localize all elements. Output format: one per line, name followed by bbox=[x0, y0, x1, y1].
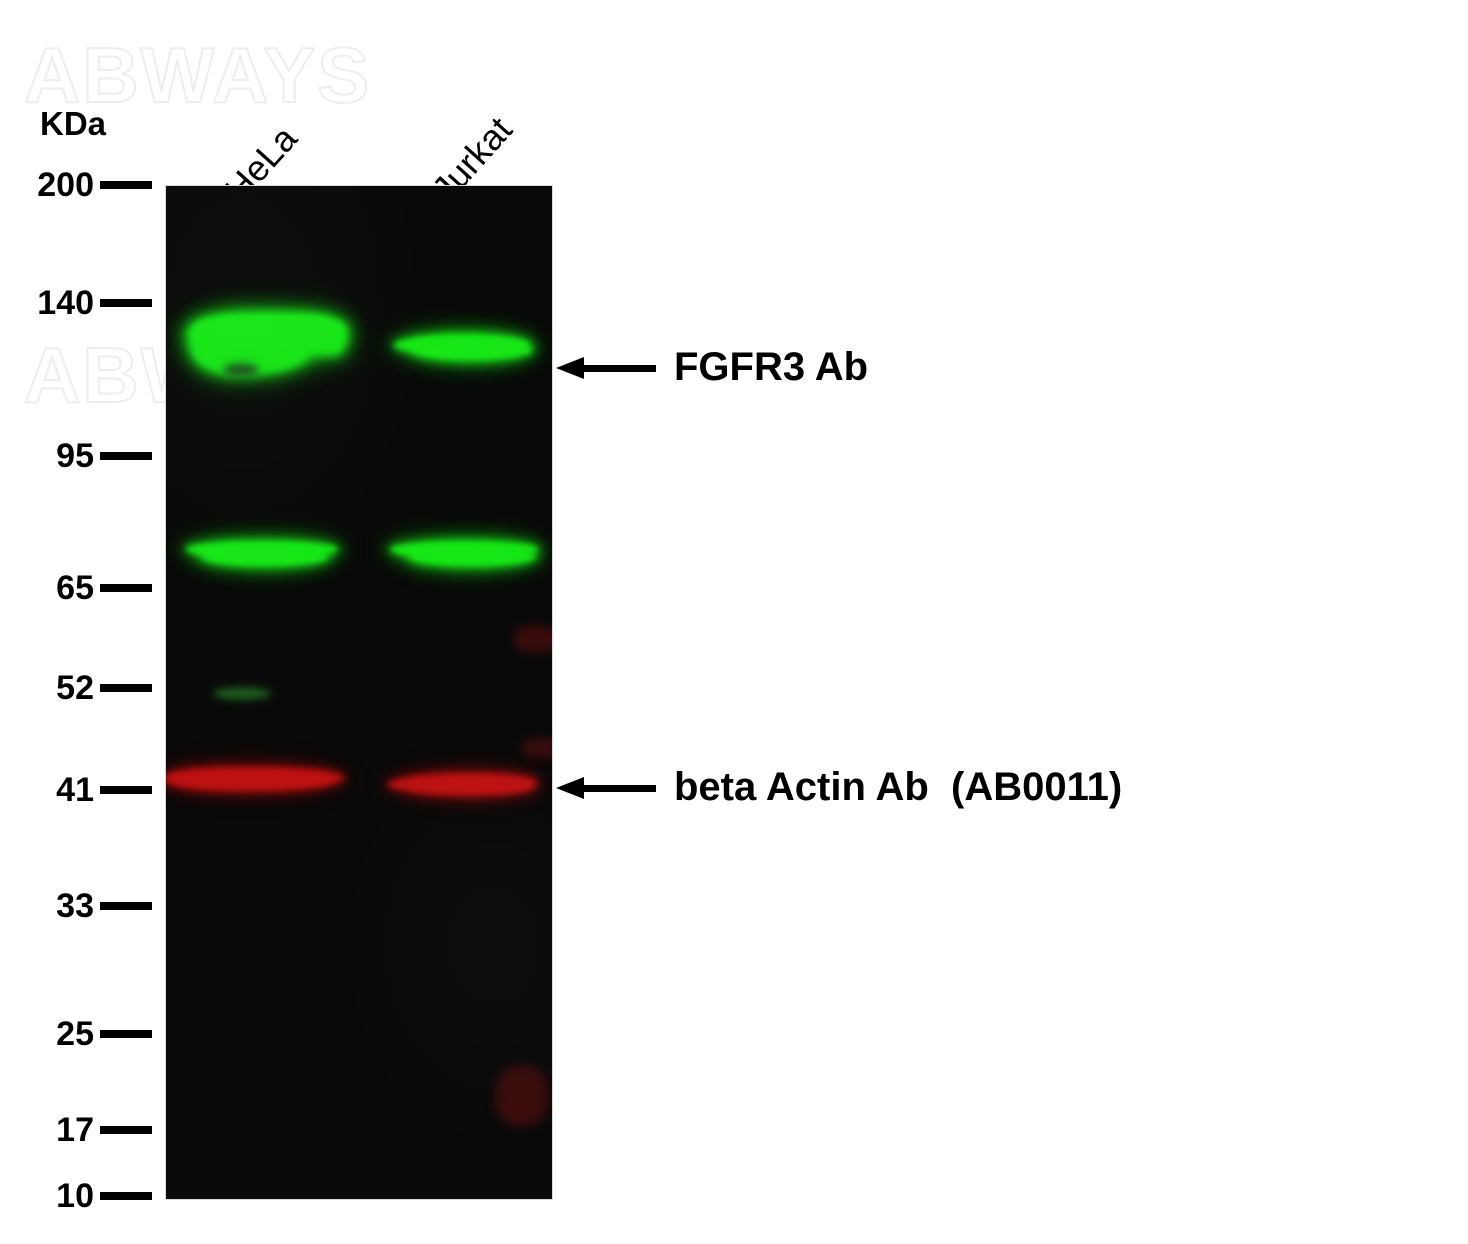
mw-label-52: 52 bbox=[56, 671, 94, 705]
mw-marker-52: 52 bbox=[0, 671, 152, 705]
mw-label-65: 65 bbox=[56, 571, 94, 605]
band-jurkat-fgfr3-upper-slant bbox=[414, 340, 532, 360]
annotation-fgfr3: FGFR3 Ab bbox=[556, 345, 868, 390]
mw-label-25: 25 bbox=[56, 1017, 94, 1051]
mw-marker-65: 65 bbox=[0, 571, 152, 605]
mw-marker-200: 200 bbox=[0, 168, 152, 202]
blot-membrane bbox=[165, 185, 553, 1200]
mw-tick-200 bbox=[100, 181, 152, 189]
band-jurkat-actin-core bbox=[410, 778, 534, 792]
mw-marker-17: 17 bbox=[0, 1113, 152, 1147]
annotation-actin-label: beta Actin Ab (AB0011) bbox=[674, 765, 1122, 810]
mw-marker-95: 95 bbox=[0, 439, 152, 473]
mw-tick-95 bbox=[100, 452, 152, 460]
arrow-left-icon bbox=[556, 777, 656, 799]
mw-marker-140: 140 bbox=[0, 286, 152, 320]
western-blot-figure: ABWAYS ABWAYS KDa 200 140 95 65 52 41 33… bbox=[0, 0, 1468, 1244]
annotation-fgfr3-label: FGFR3 Ab bbox=[674, 345, 868, 390]
smudge-red-right-mid bbox=[522, 738, 553, 758]
band-hela-fgfr3-upper-core bbox=[194, 316, 342, 342]
mw-label-200: 200 bbox=[37, 168, 94, 202]
band-jurkat-fgfr3-lower-curve bbox=[410, 548, 536, 566]
band-hela-fgfr3-lower-curve bbox=[202, 548, 328, 566]
mw-tick-10 bbox=[100, 1192, 152, 1200]
mw-marker-25: 25 bbox=[0, 1017, 152, 1051]
mw-marker-10: 10 bbox=[0, 1179, 152, 1213]
arrow-left-icon bbox=[556, 357, 656, 379]
mw-tick-33 bbox=[100, 902, 152, 910]
mw-tick-140 bbox=[100, 299, 152, 307]
band-hela-actin-core bbox=[172, 772, 332, 787]
mw-marker-41: 41 bbox=[0, 773, 152, 807]
mw-label-41: 41 bbox=[56, 773, 94, 807]
mw-tick-52 bbox=[100, 684, 152, 692]
mw-tick-41 bbox=[100, 786, 152, 794]
mw-label-95: 95 bbox=[56, 439, 94, 473]
mw-label-140: 140 bbox=[37, 286, 94, 320]
band-hela-fgfr3-speck bbox=[224, 364, 258, 376]
smudge-red-right-upper bbox=[514, 626, 553, 652]
mw-label-17: 17 bbox=[56, 1113, 94, 1147]
annotation-actin: beta Actin Ab (AB0011) bbox=[556, 765, 1122, 810]
mw-marker-33: 33 bbox=[0, 889, 152, 923]
smudge-red-right-lower bbox=[496, 1066, 548, 1126]
mw-tick-17 bbox=[100, 1126, 152, 1134]
band-hela-nonspecific-52 bbox=[214, 688, 270, 699]
mw-tick-65 bbox=[100, 584, 152, 592]
mw-tick-25 bbox=[100, 1030, 152, 1038]
kda-axis-title: KDa bbox=[40, 105, 106, 143]
mw-label-33: 33 bbox=[56, 889, 94, 923]
mw-label-10: 10 bbox=[56, 1179, 94, 1213]
